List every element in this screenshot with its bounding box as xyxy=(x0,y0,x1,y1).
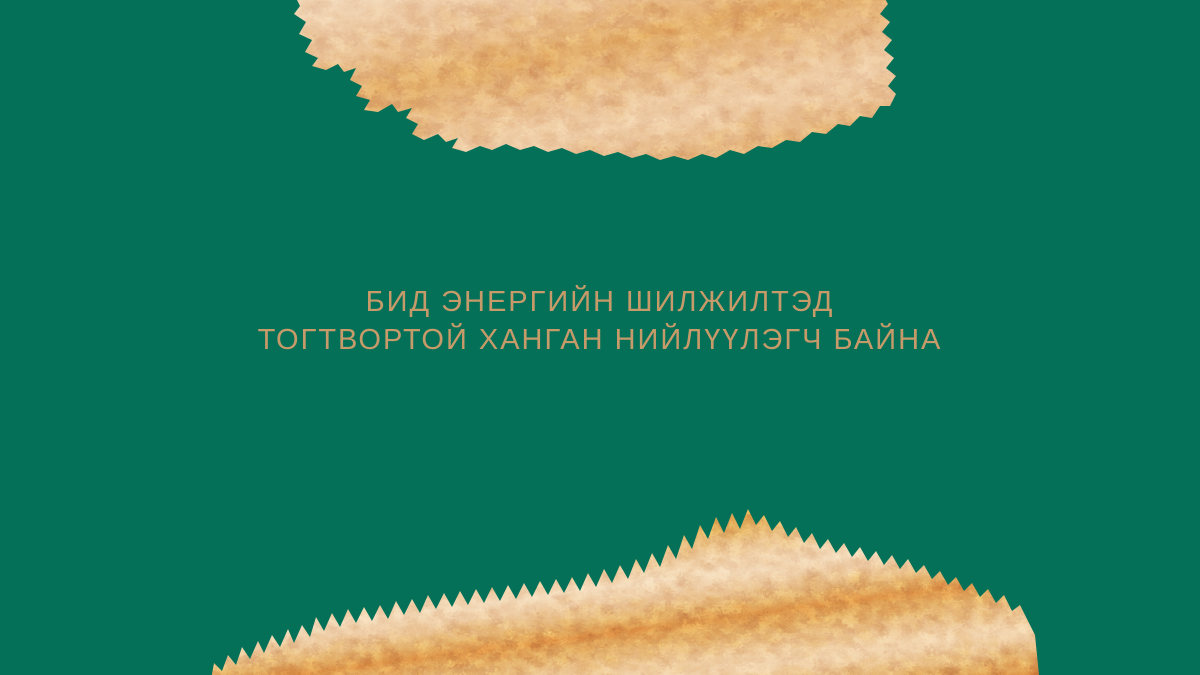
headline-line-2: ТОГТВОРТОЙ ХАНГАН НИЙЛҮҮЛЭГЧ БАЙНА xyxy=(0,321,1200,359)
slide-canvas: БИД ЭНЕРГИЙН ШИЛЖИЛТЭД ТОГТВОРТОЙ ХАНГАН… xyxy=(0,0,1200,675)
headline: БИД ЭНЕРГИЙН ШИЛЖИЛТЭД ТОГТВОРТОЙ ХАНГАН… xyxy=(0,283,1200,359)
headline-line-1: БИД ЭНЕРГИЙН ШИЛЖИЛТЭД xyxy=(0,283,1200,321)
